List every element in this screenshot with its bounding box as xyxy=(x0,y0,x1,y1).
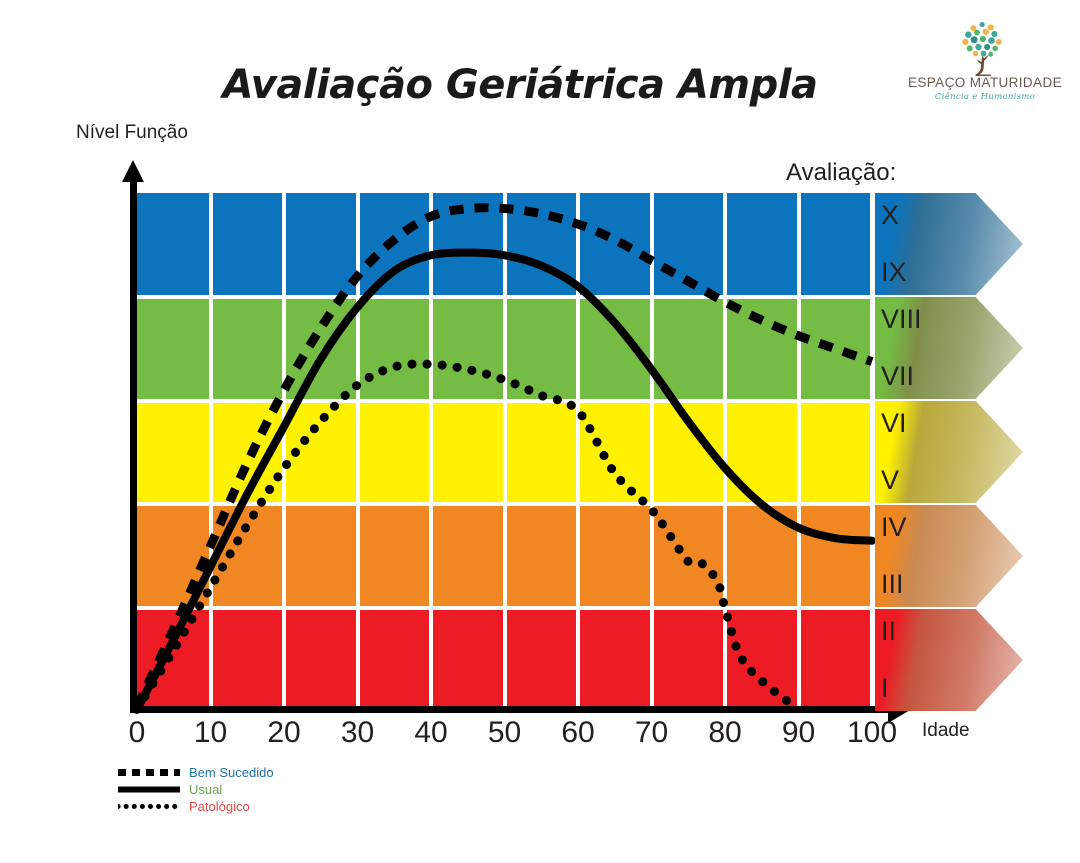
vertical-gridline xyxy=(503,193,507,712)
stage-numeral: VII xyxy=(881,363,914,390)
stage-panel-X-IX: XIX xyxy=(875,193,1023,295)
legend-item: Bem Sucedido xyxy=(118,764,418,781)
evaluation-label: Avaliação: xyxy=(786,159,896,187)
legend-swatch-dashed xyxy=(118,766,180,779)
stage-panel-VIII-VII: VIIIVII xyxy=(875,297,1023,399)
x-tick-label: 60 xyxy=(561,716,594,750)
tree-icon xyxy=(900,18,1070,76)
stage-numeral: I xyxy=(881,675,889,702)
stage-numeral: X xyxy=(881,202,899,229)
legend-label: Bem Sucedido xyxy=(189,766,274,779)
bedridden-patient-photo xyxy=(875,609,1023,711)
x-tick-label: 80 xyxy=(708,716,741,750)
x-tick-label: 100 xyxy=(847,716,897,750)
stage-panel-IV-III: IVIII xyxy=(875,505,1023,607)
x-tick-label: 50 xyxy=(488,716,521,750)
vertical-gridline xyxy=(356,193,360,712)
stage-numeral: III xyxy=(881,571,904,598)
vertical-gridline xyxy=(576,193,580,712)
stage-panel-II-I: III xyxy=(875,609,1023,711)
legend-swatch-dotted xyxy=(118,800,180,813)
horizontal-gridline xyxy=(137,399,872,403)
vertical-gridline xyxy=(723,193,727,712)
stage-numeral: V xyxy=(881,467,899,494)
x-axis-line xyxy=(130,706,890,713)
legend-item: Patológico xyxy=(118,798,418,815)
logo-name: ESPAÇO MATURIDADE xyxy=(900,76,1070,90)
x-axis-label: Idade xyxy=(922,720,970,742)
stage-numeral: II xyxy=(881,618,896,645)
vertical-gridline xyxy=(870,193,874,712)
chart-stage: Avaliação Geriátrica Ampla xyxy=(0,0,1080,863)
horizontal-gridline xyxy=(137,606,872,610)
vertical-gridline xyxy=(797,193,801,712)
x-tick-label: 70 xyxy=(635,716,668,750)
plot-area xyxy=(137,193,872,712)
legend-item: Usual xyxy=(118,781,418,798)
stage-numeral: IX xyxy=(881,259,907,286)
x-tick-label: 90 xyxy=(782,716,815,750)
horizontal-gridline xyxy=(137,295,872,299)
vertical-gridline xyxy=(209,193,213,712)
legend-label: Usual xyxy=(189,783,222,796)
logo-tagline: Ciência e Humanismo xyxy=(900,92,1070,102)
x-tick-label: 20 xyxy=(267,716,300,750)
stage-numeral: IV xyxy=(881,514,907,541)
y-axis-label: Nível Função xyxy=(76,122,188,144)
stage-panel-VI-V: VIV xyxy=(875,401,1023,503)
legend-swatch-solid xyxy=(118,783,180,796)
x-tick-label: 40 xyxy=(414,716,447,750)
x-tick-label: 30 xyxy=(341,716,374,750)
stage-numeral: VIII xyxy=(881,306,922,333)
horizontal-gridline xyxy=(137,502,872,506)
page-title: Avaliação Geriátrica Ampla xyxy=(180,62,860,108)
x-tick-label: 10 xyxy=(194,716,227,750)
legend: Bem SucedidoUsualPatológico xyxy=(118,764,418,815)
vertical-gridline xyxy=(429,193,433,712)
legend-label: Patológico xyxy=(189,800,250,813)
vertical-gridline xyxy=(282,193,286,712)
stage-numeral: VI xyxy=(881,410,907,437)
y-axis-line xyxy=(130,178,137,712)
x-tick-label: 0 xyxy=(129,716,146,750)
vertical-gridline xyxy=(650,193,654,712)
y-axis-arrow-icon xyxy=(122,160,144,182)
logo: ESPAÇO MATURIDADE Ciência e Humanismo xyxy=(900,18,1070,118)
